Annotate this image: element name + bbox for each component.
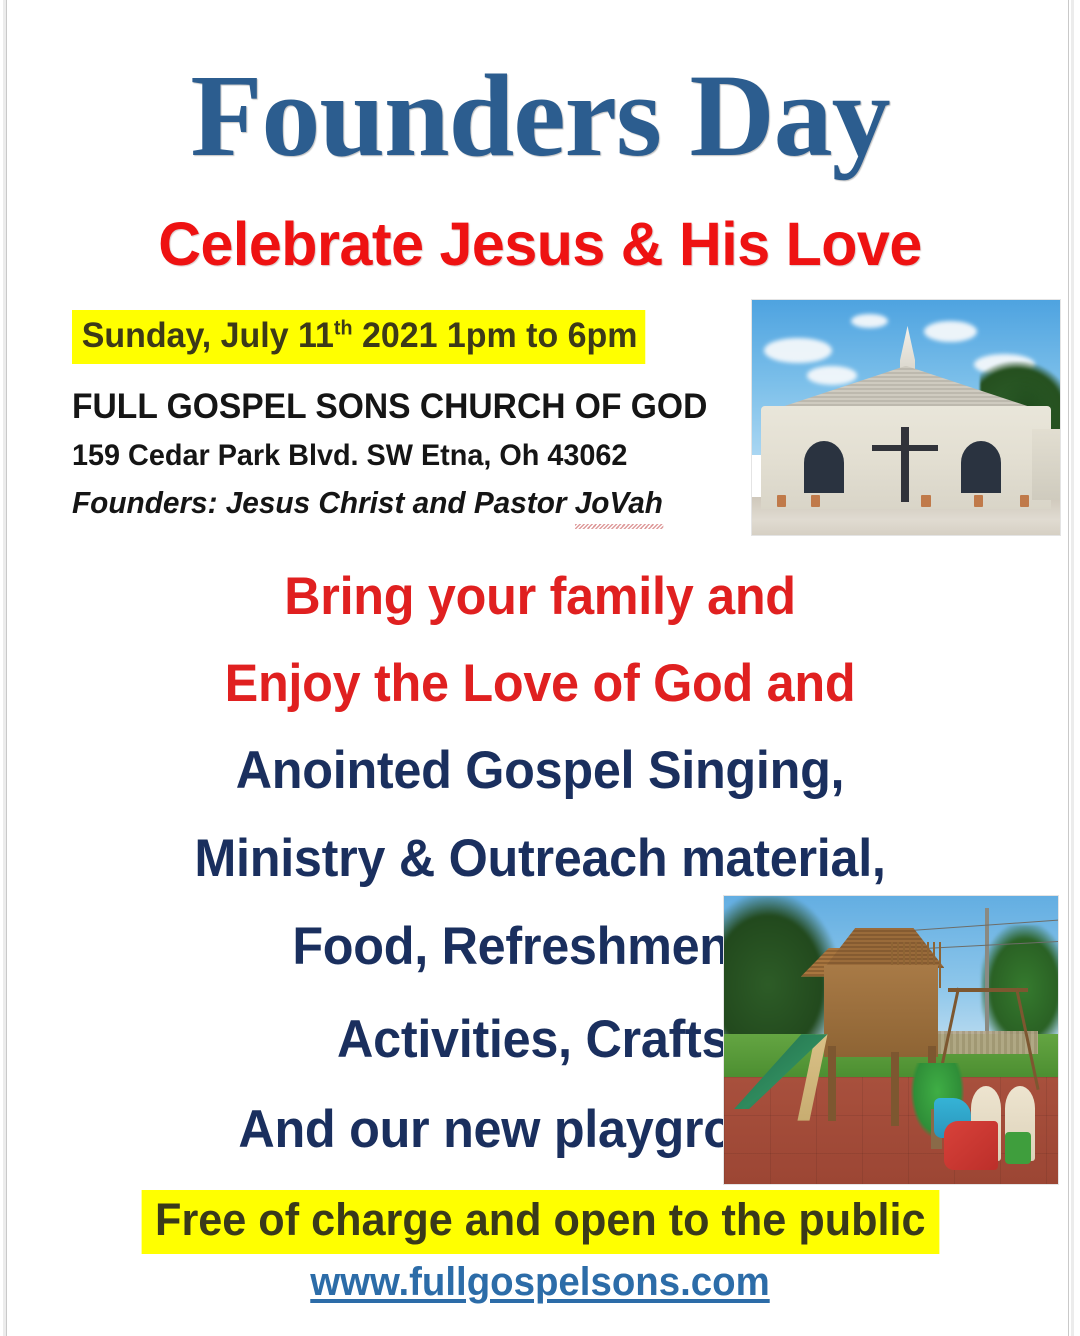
page-edge-left — [6, 0, 7, 1336]
toddler-green-step — [1005, 1132, 1032, 1164]
website-link[interactable]: www.fullgospelsons.com — [22, 1258, 1059, 1306]
page-edge-right-soft — [1071, 0, 1074, 1336]
planter — [921, 495, 930, 507]
body-line-4: Ministry & Outreach material, — [27, 832, 1053, 885]
planter — [1020, 495, 1029, 507]
page-subtitle: Celebrate Jesus & His Love — [16, 212, 1064, 276]
event-date-suffix: 2021 1pm to 6pm — [353, 316, 638, 355]
body-line-2: Enjoy the Love of God and — [27, 657, 1053, 710]
arched-window — [961, 441, 1001, 493]
event-date-ordinal: th — [334, 317, 353, 339]
event-date-prefix: Sunday, July 11 — [82, 316, 334, 355]
church-annex — [1032, 429, 1060, 500]
event-date-time: Sunday, July 11th 2021 1pm to 6pm — [72, 310, 645, 364]
founders-line: Founders: Jesus Christ and Pastor JoVah — [72, 484, 706, 521]
church-photo — [752, 300, 1060, 535]
playhouse-post — [891, 1052, 899, 1127]
page-title: Founders Day — [0, 56, 1080, 176]
planter — [777, 495, 786, 507]
playhouse-post — [828, 1046, 836, 1121]
cross-icon — [872, 445, 938, 451]
tree-foliage — [724, 896, 838, 1057]
founders-pastor-name: JoVah — [575, 484, 663, 521]
playground-photo — [724, 896, 1058, 1184]
planter — [974, 495, 983, 507]
event-info-block: Sunday, July 11th 2021 1pm to 6pm FULL G… — [72, 310, 732, 522]
free-notice-wrap: Free of charge and open to the public — [0, 1190, 1080, 1254]
cross-icon — [901, 427, 909, 502]
playground-photo-inner — [724, 896, 1058, 1184]
page-edge-right — [1068, 0, 1069, 1336]
body-line-1: Bring your family and — [27, 570, 1053, 623]
founders-prefix: Founders: Jesus Christ and Pastor — [72, 485, 575, 520]
body-line-3: Anointed Gospel Singing, — [27, 744, 1053, 797]
arched-window — [804, 441, 844, 493]
toddler-red-slide — [944, 1121, 997, 1170]
playhouse-deck — [824, 965, 938, 1057]
church-address: 159 Cedar Park Blvd. SW Etna, Oh 43062 — [72, 438, 706, 474]
cloud-icon — [807, 366, 856, 385]
flyer-page: Founders Day Celebrate Jesus & His Love … — [0, 0, 1080, 1336]
cloud-icon — [851, 314, 888, 328]
church-photo-inner — [752, 300, 1060, 535]
church-name: FULL GOSPEL SONS CHURCH OF GOD — [72, 386, 706, 429]
free-notice: Free of charge and open to the public — [141, 1190, 938, 1254]
planter — [811, 495, 820, 507]
